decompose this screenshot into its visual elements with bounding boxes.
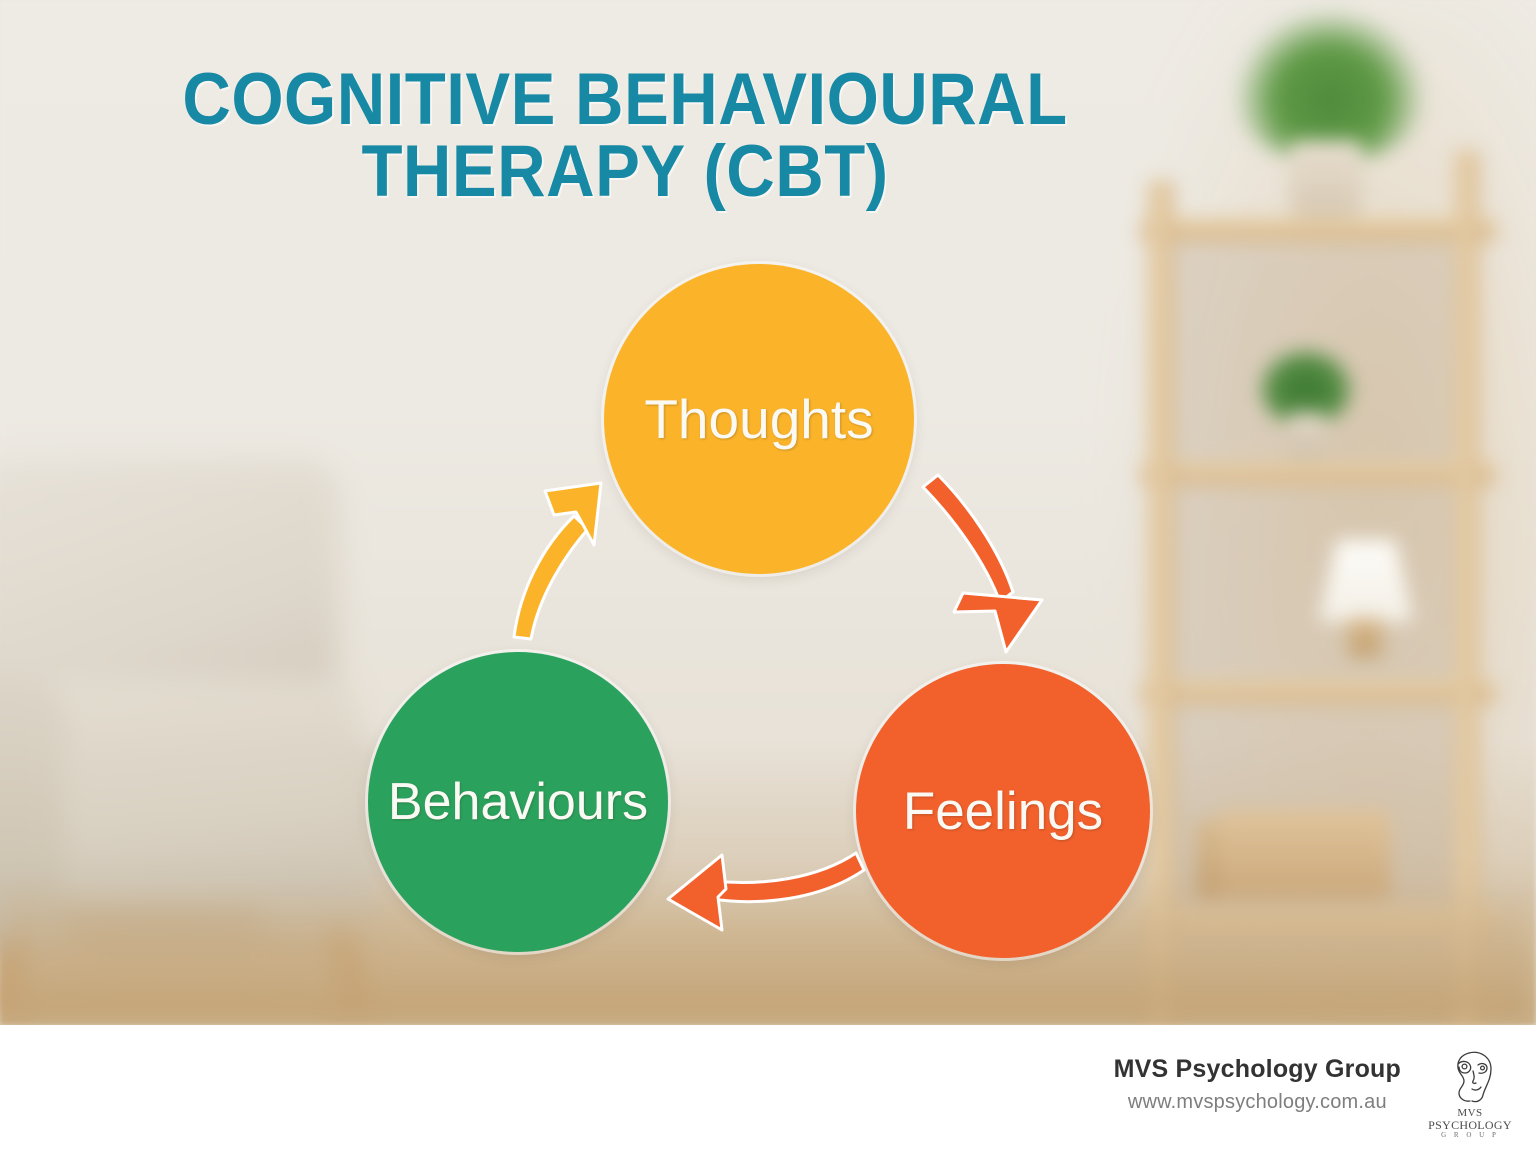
node-feelings[interactable]: Feelings [856, 664, 1150, 958]
arrow-feelings-to-behaviours [668, 853, 864, 930]
logo-line-3: G R O U P [1416, 1132, 1524, 1140]
logo-wordmark: MVS PSYCHOLOGY G R O U P [1416, 1107, 1524, 1140]
node-thoughts[interactable]: Thoughts [604, 264, 914, 574]
node-thoughts-label: Thoughts [644, 387, 873, 451]
poster-canvas: COGNITIVE BEHAVIOURAL THERAPY (CBT) Thou… [0, 0, 1536, 1154]
mvs-logo: MVS PSYCHOLOGY G R O U P [1416, 1047, 1524, 1147]
node-behaviours-label: Behaviours [388, 772, 648, 832]
brand-name: MVS Psychology Group [1114, 1055, 1401, 1084]
brand-block: MVS Psychology Group www.mvspsychology.c… [1114, 1055, 1401, 1114]
page-title-line-2: THERAPY (CBT) [50, 136, 1200, 208]
arrow-thoughts-to-feelings [923, 475, 1042, 652]
page-title: COGNITIVE BEHAVIOURAL THERAPY (CBT) [50, 64, 1200, 207]
node-behaviours[interactable]: Behaviours [368, 652, 668, 952]
arrow-behaviours-to-thoughts [514, 483, 601, 639]
brand-website[interactable]: www.mvspsychology.com.au [1114, 1091, 1401, 1114]
page-title-line-1: COGNITIVE BEHAVIOURAL [50, 64, 1200, 136]
node-feelings-label: Feelings [903, 781, 1103, 842]
footer-bar: MVS Psychology Group www.mvspsychology.c… [0, 1025, 1536, 1154]
line-art-face-icon [1439, 1047, 1501, 1109]
